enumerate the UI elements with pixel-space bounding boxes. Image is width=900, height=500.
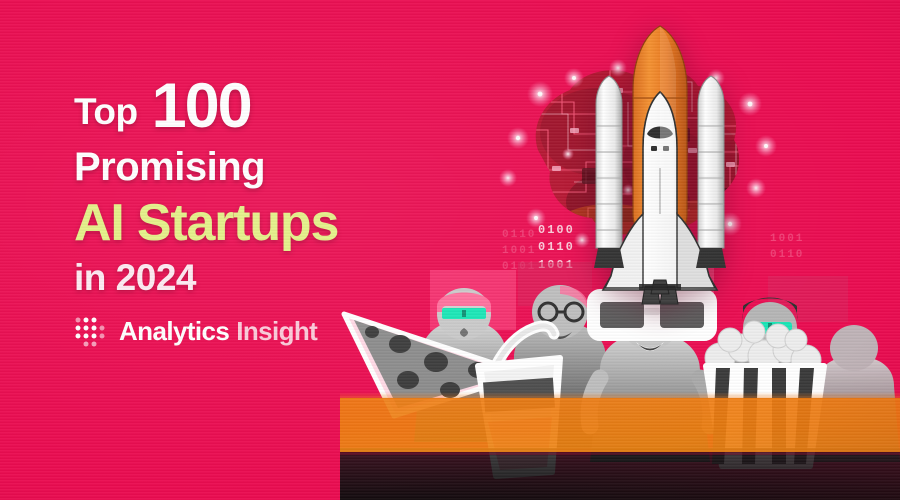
title-line-top: Top 100: [74, 72, 338, 135]
page-title: Top 100 Promising AI Startups in 2024: [74, 72, 338, 296]
brand-word-insight: Insight: [236, 316, 317, 346]
brand-wordmark: AnalyticsInsight: [119, 316, 317, 347]
space-shuttle-illustration: [565, 18, 755, 308]
title-adjective: Promising: [74, 147, 338, 187]
brand-word-analytics: Analytics: [119, 316, 229, 346]
title-subject: AI Startups: [74, 197, 338, 249]
title-top-label: Top: [74, 93, 138, 130]
title-count: 100: [152, 75, 251, 138]
orange-banner-bar: [340, 398, 900, 452]
title-year: in 2024: [74, 259, 338, 296]
poster-canvas: 0110 1001 0101 0100 0110 1001 1001 0110: [0, 0, 900, 500]
bottom-shadow-band: [340, 448, 900, 500]
dot-grid-icon: [74, 316, 106, 347]
brand-logo[interactable]: AnalyticsInsight: [74, 316, 317, 347]
binary-overlay-right: 1001 0110: [770, 232, 804, 264]
